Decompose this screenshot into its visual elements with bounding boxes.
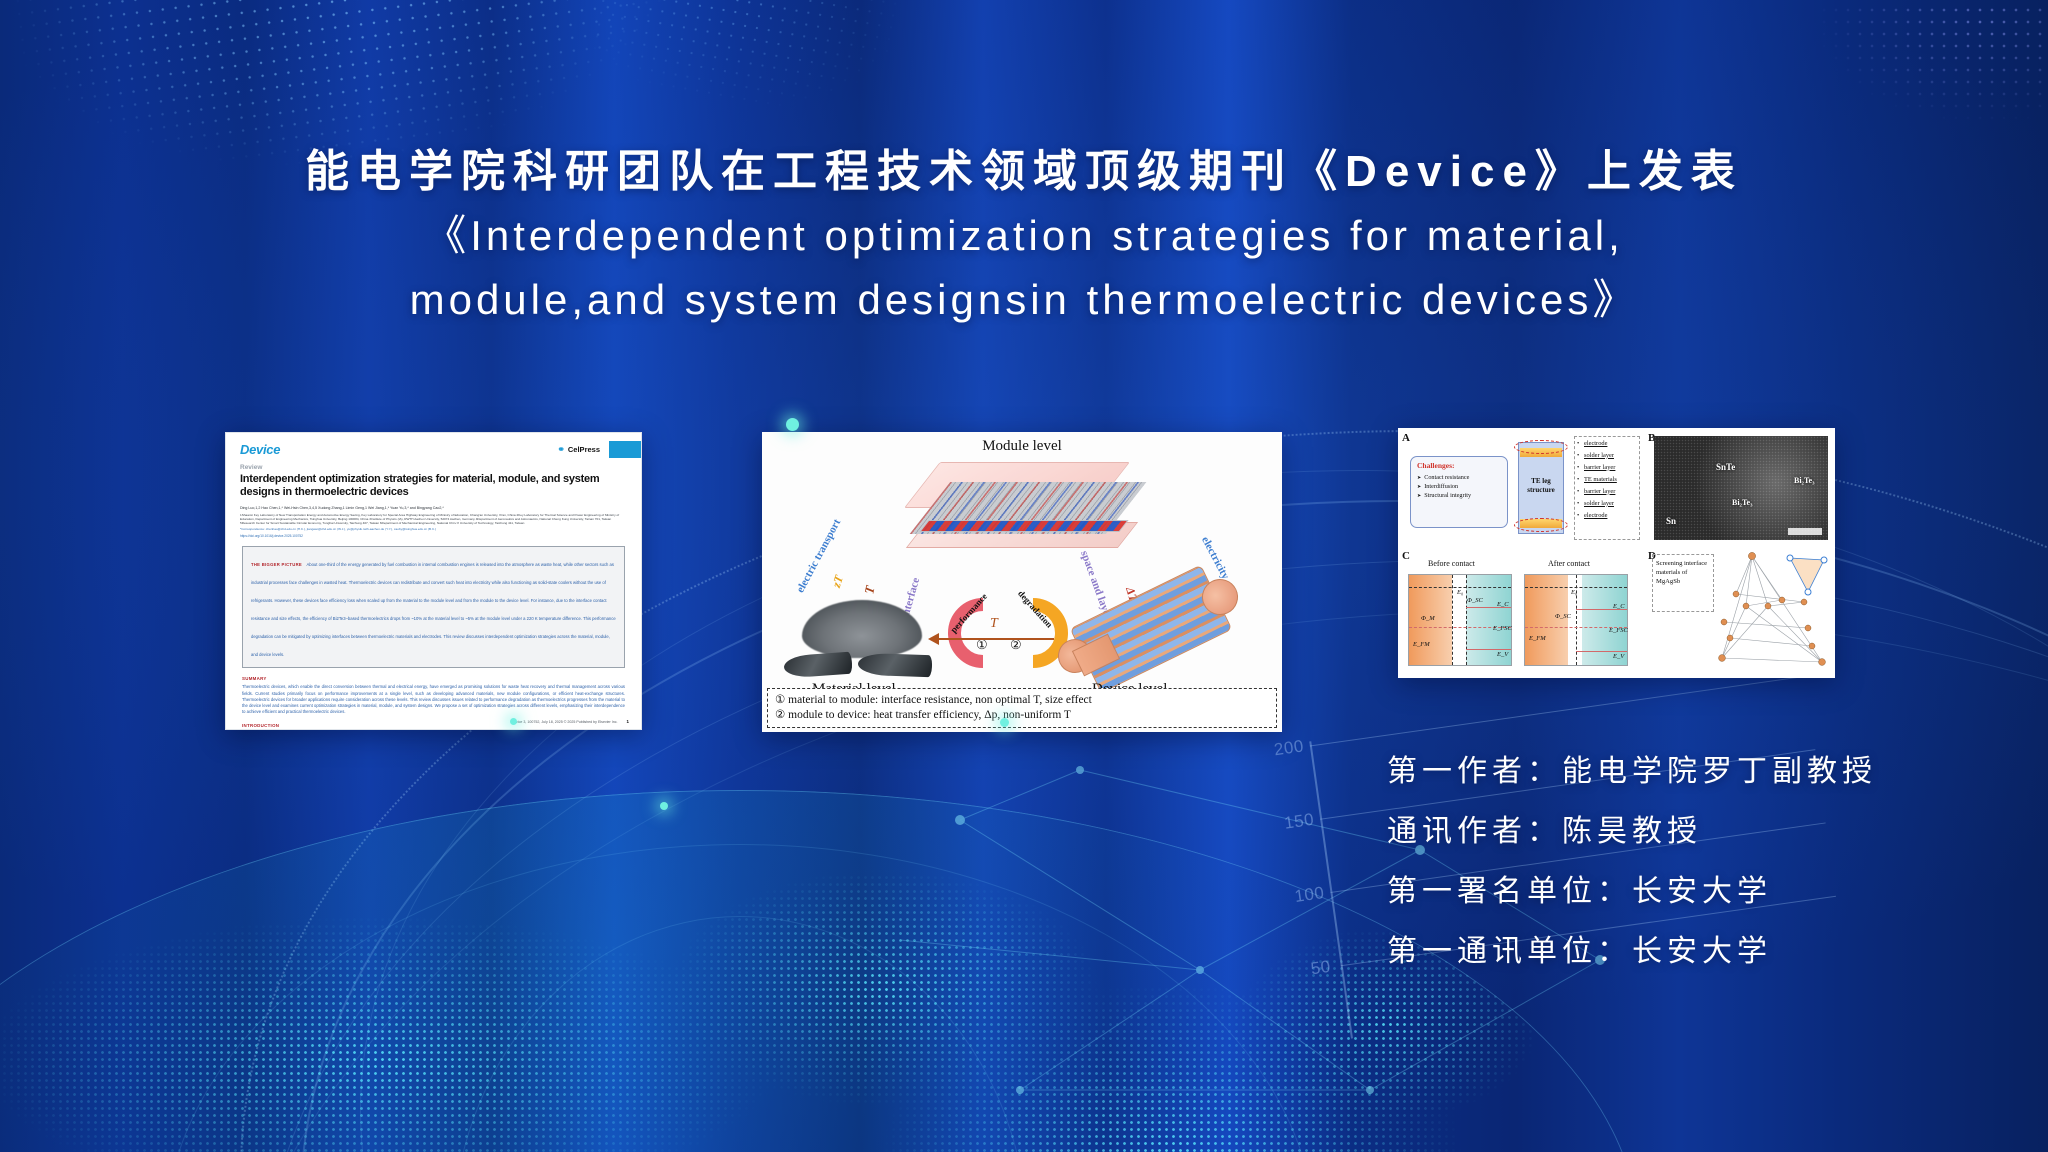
glow-dot bbox=[786, 418, 799, 431]
band-diagram-before: E₀ Φ_M Φ_SC E_C E_FSC E_FM E_V bbox=[1408, 574, 1512, 666]
paper-title: Interdependent optimization strategies f… bbox=[240, 473, 627, 499]
footer-citation: Device 3, 100752, July 18, 2025 © 2025 P… bbox=[511, 720, 617, 724]
glow-dot bbox=[1000, 718, 1009, 727]
layer-label: barrier layer bbox=[1575, 485, 1639, 497]
screening-note-box: Screening interface materials of MgAgSb bbox=[1652, 554, 1714, 612]
summary-label: SUMMARY bbox=[242, 676, 625, 681]
challenge-item: Structural integrity bbox=[1411, 490, 1507, 499]
title-line-chinese: 能电学院科研团队在工程技术领域顶级期刊《Device》上发表 bbox=[0, 140, 2048, 204]
band-label-e0: E₀ bbox=[1571, 589, 1577, 596]
metal-region bbox=[1525, 575, 1568, 665]
challenge-item: Interdiffusion bbox=[1411, 481, 1507, 490]
layer-label: barrier layer bbox=[1575, 461, 1639, 473]
dot-wave-pattern-right bbox=[1758, 0, 2048, 150]
material-ingot-photo bbox=[783, 652, 852, 679]
highlight-ellipse-bottom bbox=[1514, 518, 1568, 532]
band-label-phi-sc: Φ_SC bbox=[1467, 597, 1483, 604]
challenges-box: Challenges: Contact resistance Interdiff… bbox=[1410, 456, 1508, 528]
band-diagram-after: E₀ Φ_SC E_C E_FSC E_FM E_V bbox=[1524, 574, 1628, 666]
figure-panel-d: D Screening interface materials of MgAgS… bbox=[1646, 548, 1835, 678]
chart-y-tick: 50 bbox=[1310, 957, 1333, 980]
title-line-english-1: 《Interdependent optimization strategies … bbox=[0, 204, 2048, 268]
phase-diagram-network bbox=[1712, 550, 1832, 674]
info-first-corresponding-affiliation: 第一通讯单位：长安大学 bbox=[1387, 922, 1877, 982]
caption-line-2: ② module to device: heat transfer effici… bbox=[775, 708, 1269, 723]
module-pn-leg-row bbox=[919, 520, 1128, 532]
info-first-author: 第一作者：能电学院罗丁副教授 bbox=[1387, 742, 1877, 802]
vacuum-level-line bbox=[1525, 587, 1627, 588]
paper-footer: Device 3, 100752, July 18, 2025 © 2025 P… bbox=[226, 719, 629, 724]
layer-label: TE materials bbox=[1575, 473, 1639, 485]
thermoelectric-device-illustration bbox=[1052, 577, 1242, 687]
bigger-picture-text: About one-third of the energy generated … bbox=[251, 562, 616, 657]
thermoelectric-module-illustration bbox=[912, 460, 1142, 550]
temperature-arrow bbox=[938, 638, 1054, 640]
arrow-label-t-bottom: T bbox=[990, 616, 998, 632]
band-label-phi-m: Φ_M bbox=[1421, 615, 1435, 622]
band-label-ec: E_C bbox=[1613, 603, 1625, 610]
highlight-ellipse-top bbox=[1514, 440, 1568, 454]
author-info-block: 第一作者：能电学院罗丁副教授 通讯作者：陈昊教授 第一署名单位：长安大学 第一通… bbox=[1387, 742, 1877, 982]
dashed-divider bbox=[1452, 575, 1453, 665]
vacuum-level-line bbox=[1409, 587, 1511, 588]
dashed-divider bbox=[1466, 575, 1467, 665]
paper-header: Device ⚭ CelPress bbox=[226, 433, 641, 464]
challenge-item: Contact resistance bbox=[1411, 472, 1507, 481]
figure-panel-a: A Challenges: Contact resistance Interdi… bbox=[1398, 428, 1644, 546]
band-label-phi-sc: Φ_SC bbox=[1555, 613, 1571, 620]
layer-label: solder layer bbox=[1575, 449, 1639, 461]
band-label-ec: E_C bbox=[1497, 601, 1509, 608]
figure-panel-b: B SnTe Sn Bi₂Te₃ Bi₂Te₃ bbox=[1646, 428, 1835, 546]
label-module-level: Module level bbox=[762, 438, 1282, 455]
panel-tag-a: A bbox=[1402, 432, 1410, 444]
title-line-english-2: module,and system designsin thermoelectr… bbox=[0, 268, 2048, 332]
summary-text: Thermoelectric devices, which enable the… bbox=[242, 684, 625, 715]
figure-caption-box: ① material to module: interface resistan… bbox=[767, 688, 1277, 728]
chart-y-tick: 150 bbox=[1283, 810, 1315, 834]
valence-band-line bbox=[1576, 651, 1627, 652]
sem-label-bite-2: Bi₂Te₃ bbox=[1732, 498, 1753, 507]
introduction-label: INTRODUCTION bbox=[242, 723, 625, 728]
bigger-picture-box: THE BIGGER PICTURE About one-third of th… bbox=[242, 546, 625, 668]
layer-label-column: electrode solder layer barrier layer TE … bbox=[1574, 436, 1640, 540]
publisher-logo: ⚭ CelPress bbox=[557, 441, 641, 458]
multi-panel-figure[interactable]: A Challenges: Contact resistance Interdi… bbox=[1398, 428, 1835, 678]
journal-name: Device bbox=[240, 442, 280, 457]
glow-dot bbox=[510, 718, 517, 725]
chart-y-tick: 100 bbox=[1293, 883, 1325, 907]
band-label-efm: E_FM bbox=[1529, 635, 1546, 642]
band-label-efm: E_FM bbox=[1413, 641, 1430, 648]
material-ingot-photo bbox=[858, 653, 933, 678]
paper-correspondence: *Correspondence: chenhao@chd.edu.cn (H.C… bbox=[240, 527, 627, 531]
te-leg-structure-label: TE leg structure bbox=[1519, 477, 1563, 495]
arrow-label-zt: zT bbox=[829, 573, 847, 589]
layer-label: electrode bbox=[1575, 437, 1639, 449]
sem-label-bite-1: Bi₂Te₃ bbox=[1794, 476, 1815, 485]
article-type: Review bbox=[240, 464, 627, 471]
figure-panel-c: C Before contact After contact E₀ Φ_M Φ_… bbox=[1398, 548, 1644, 678]
label-after-contact: After contact bbox=[1548, 559, 1590, 568]
chart-y-tick: 200 bbox=[1273, 736, 1305, 760]
layer-label: electrode bbox=[1575, 509, 1639, 521]
label-before-contact: Before contact bbox=[1428, 559, 1475, 568]
header-blue-bar bbox=[609, 441, 641, 458]
info-first-affiliation: 第一署名单位：长安大学 bbox=[1387, 862, 1877, 922]
performance-ring-left bbox=[948, 598, 1018, 668]
cellpress-mark-icon: ⚭ bbox=[557, 444, 565, 455]
paper-affiliations: 1Shaanxi Key Laboratory of New Transport… bbox=[240, 513, 627, 526]
layer-label: solder layer bbox=[1575, 497, 1639, 509]
valence-band-line bbox=[1466, 649, 1511, 650]
paper-doi[interactable]: https://doi.org/10.1016/j.device.2025.10… bbox=[240, 534, 627, 538]
publisher-name: CelPress bbox=[568, 445, 600, 454]
ternary-triangle bbox=[1790, 558, 1824, 592]
page-title: 能电学院科研团队在工程技术领域顶级期刊《Device》上发表 《Interdep… bbox=[0, 140, 2048, 332]
info-corresponding-author: 通讯作者：陈昊教授 bbox=[1387, 802, 1877, 862]
paper-first-page-thumbnail[interactable]: Device ⚭ CelPress Review Interdependent … bbox=[225, 432, 642, 730]
sem-texture bbox=[1654, 436, 1828, 540]
challenges-list: Contact resistance Interdiffusion Struct… bbox=[1411, 472, 1507, 499]
panel-tag-c: C bbox=[1402, 550, 1410, 562]
caption-line-1: ① material to module: interface resistan… bbox=[775, 693, 1269, 708]
sem-label-sn: Sn bbox=[1666, 516, 1676, 526]
paper-authors: Ding Luo,1,2 Hao Chen,1,* Wei-Hsin Chen,… bbox=[240, 506, 627, 511]
band-label-ev: E_V bbox=[1497, 651, 1508, 658]
band-label-e0: E₀ bbox=[1457, 589, 1463, 596]
challenges-title: Challenges: bbox=[1411, 457, 1507, 472]
bigger-picture-label: THE BIGGER PICTURE bbox=[251, 562, 302, 567]
arrow-label-t-left: T bbox=[861, 584, 878, 595]
graphical-abstract-figure[interactable]: Module level electric transport zT T int… bbox=[762, 432, 1282, 732]
sem-micrograph: SnTe Sn Bi₂Te₃ Bi₂Te₃ bbox=[1654, 436, 1828, 540]
band-label-efsc: E_FSC bbox=[1493, 625, 1512, 632]
glow-dot bbox=[660, 802, 668, 810]
band-label-efsc: E_FSC bbox=[1609, 627, 1628, 634]
band-label-ev: E_V bbox=[1613, 653, 1624, 660]
sem-scale-bar bbox=[1788, 528, 1822, 535]
page-number: 1 bbox=[627, 719, 629, 724]
sem-label-snte: SnTe bbox=[1716, 462, 1735, 472]
